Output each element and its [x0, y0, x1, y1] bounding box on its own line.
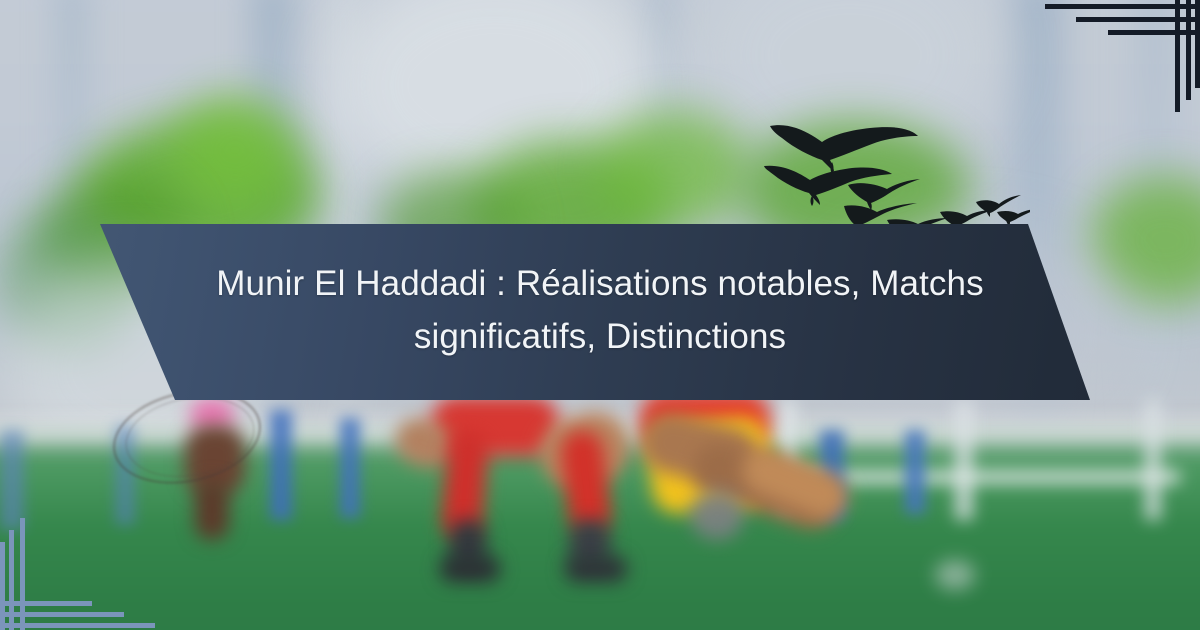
background-person: [195, 480, 229, 540]
field-marker: [340, 418, 360, 518]
share-card: Munir El Haddadi : Réalisations notables…: [0, 0, 1200, 630]
corner-line-vertical: [1195, 0, 1200, 88]
corner-lines-top-right: [1020, 0, 1200, 115]
corner-lines-bottom-left: [0, 515, 180, 630]
birds-icon: [760, 108, 1030, 233]
player-boot: [440, 556, 500, 582]
corner-line-vertical: [0, 542, 5, 630]
foliage-blob: [175, 95, 295, 205]
football: [935, 560, 975, 590]
football: [690, 490, 744, 540]
page-title: Munir El Haddadi : Réalisations notables…: [190, 257, 1010, 363]
player-boot: [565, 556, 627, 582]
corner-line-vertical: [1175, 0, 1180, 112]
goal-post: [1145, 400, 1161, 520]
field-marker: [270, 410, 292, 520]
corner-line-horizontal: [1076, 17, 1200, 22]
corner-line-vertical: [1186, 0, 1191, 100]
goal-post: [955, 400, 973, 520]
title-banner: Munir El Haddadi : Réalisations notables…: [0, 224, 1200, 400]
corner-line-horizontal: [0, 612, 124, 617]
corner-line-vertical: [20, 518, 25, 630]
corner-line-vertical: [9, 530, 14, 630]
field-marker: [905, 430, 925, 514]
foliage-blob: [600, 110, 750, 230]
